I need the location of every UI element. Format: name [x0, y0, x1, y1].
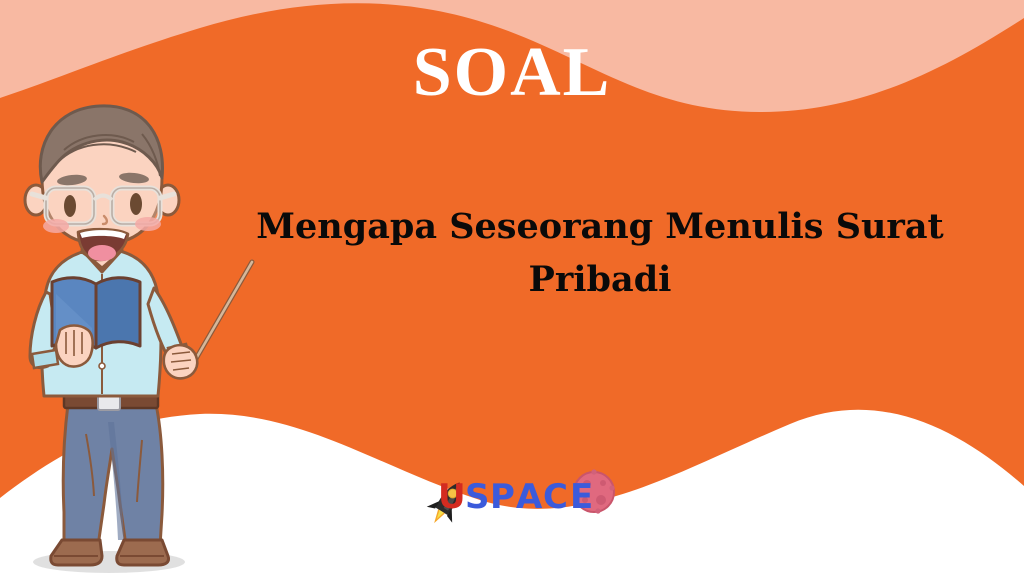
planet-icon: [574, 469, 615, 513]
uspace-logo[interactable]: U S P A C E: [424, 462, 620, 528]
presentation-slide: SOAL Mengapa Seseorang Menulis Surat Pri…: [0, 0, 1024, 576]
uspace-logo-graphic: U S P A C E: [424, 462, 620, 528]
head: [25, 106, 179, 261]
rocket-icon: [424, 475, 472, 528]
hand-right: [164, 345, 198, 378]
logo-letter-e: E: [570, 477, 593, 517]
question-line-1: Mengapa Seseorang Menulis Surat: [242, 200, 958, 253]
hand-left: [56, 326, 93, 367]
question-text: Mengapa Seseorang Menulis Surat Pribadi: [242, 200, 958, 306]
slide-title: SOAL: [0, 36, 1024, 110]
question-line-2: Pribadi: [242, 253, 958, 306]
teacher-illustration: [0, 104, 262, 576]
logo-letter-p: P: [490, 477, 515, 517]
logo-letter-a: A: [516, 477, 543, 517]
logo-letter-u: U: [438, 477, 466, 517]
pants: [63, 404, 163, 546]
logo-letter-c: C: [543, 477, 568, 517]
logo-letter-s: S: [465, 477, 490, 517]
